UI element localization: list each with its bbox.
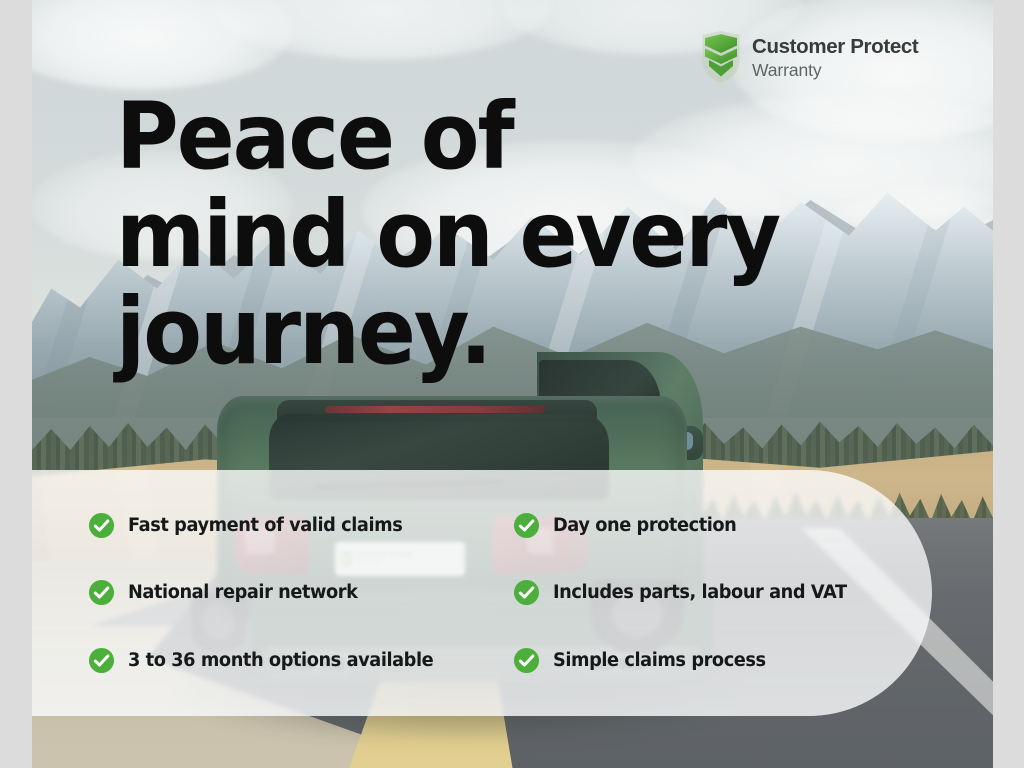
check-circle-icon — [513, 579, 540, 606]
check-circle-icon — [88, 647, 115, 674]
car-high-level-brake-light — [325, 406, 545, 413]
check-circle-icon — [513, 512, 540, 539]
check-circle-icon — [88, 579, 115, 606]
frame-bar-left — [0, 0, 32, 768]
feature-item: National repair network — [88, 559, 513, 626]
feature-label: Day one protection — [553, 515, 736, 536]
warranty-promo-banner: Customer Protect Warranty Peace of mind … — [0, 0, 1024, 768]
feature-item: 3 to 36 month options available — [88, 627, 513, 694]
feature-item: Includes parts, labour and VAT — [513, 559, 932, 626]
feature-item: Simple claims process — [513, 627, 932, 694]
frame-bar-right — [993, 0, 1024, 768]
check-circle-icon — [513, 647, 540, 674]
brand-subtitle: Warranty — [752, 60, 918, 81]
feature-label: Includes parts, labour and VAT — [553, 582, 847, 603]
brand-text-lockup: Customer Protect Warranty — [752, 31, 918, 81]
brand-logo: Customer Protect Warranty — [701, 31, 918, 83]
feature-item: Fast payment of valid claims — [88, 492, 513, 559]
brand-title: Customer Protect — [752, 36, 918, 58]
check-circle-icon — [88, 512, 115, 539]
feature-label: Fast payment of valid claims — [128, 515, 402, 536]
feature-item: Day one protection — [513, 492, 932, 559]
feature-label: National repair network — [128, 582, 357, 603]
headline: Peace of mind on every journey. — [116, 88, 851, 381]
shield-chevrons-icon — [701, 31, 741, 83]
feature-label: Simple claims process — [553, 650, 766, 671]
feature-label: 3 to 36 month options available — [128, 650, 433, 671]
features-panel: Fast payment of valid claims Day one pro… — [32, 470, 932, 716]
features-grid: Fast payment of valid claims Day one pro… — [32, 470, 932, 716]
